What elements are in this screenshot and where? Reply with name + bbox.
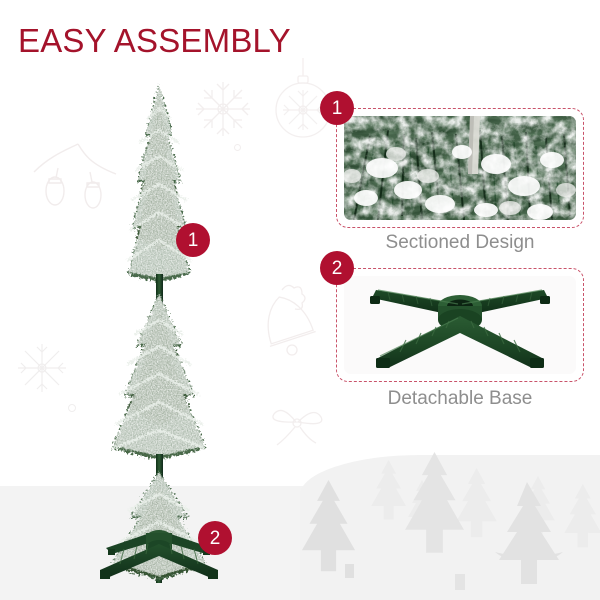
- callout-card-1: 1: [336, 108, 584, 228]
- callout-1-frame: [336, 108, 584, 228]
- tree-badge-1: 1: [176, 223, 210, 257]
- flocked-christmas-tree-image: [60, 78, 260, 583]
- tree-badge-2: 2: [198, 521, 232, 555]
- bell-watermark: [252, 282, 324, 368]
- infographic-canvas: 1 2 EASY ASSEMBLY: [0, 0, 600, 600]
- callout-1-badge: 1: [320, 91, 354, 125]
- callout-card-2: 2: [336, 268, 584, 382]
- callout-1-caption: Sectioned Design: [336, 232, 584, 254]
- page-title: EASY ASSEMBLY: [18, 22, 291, 60]
- pine-tree-silhouettes: [295, 440, 600, 600]
- callout-2-frame: [336, 268, 584, 382]
- callout-2-badge: 2: [320, 251, 354, 285]
- callout-2-caption: Detachable Base: [336, 388, 584, 410]
